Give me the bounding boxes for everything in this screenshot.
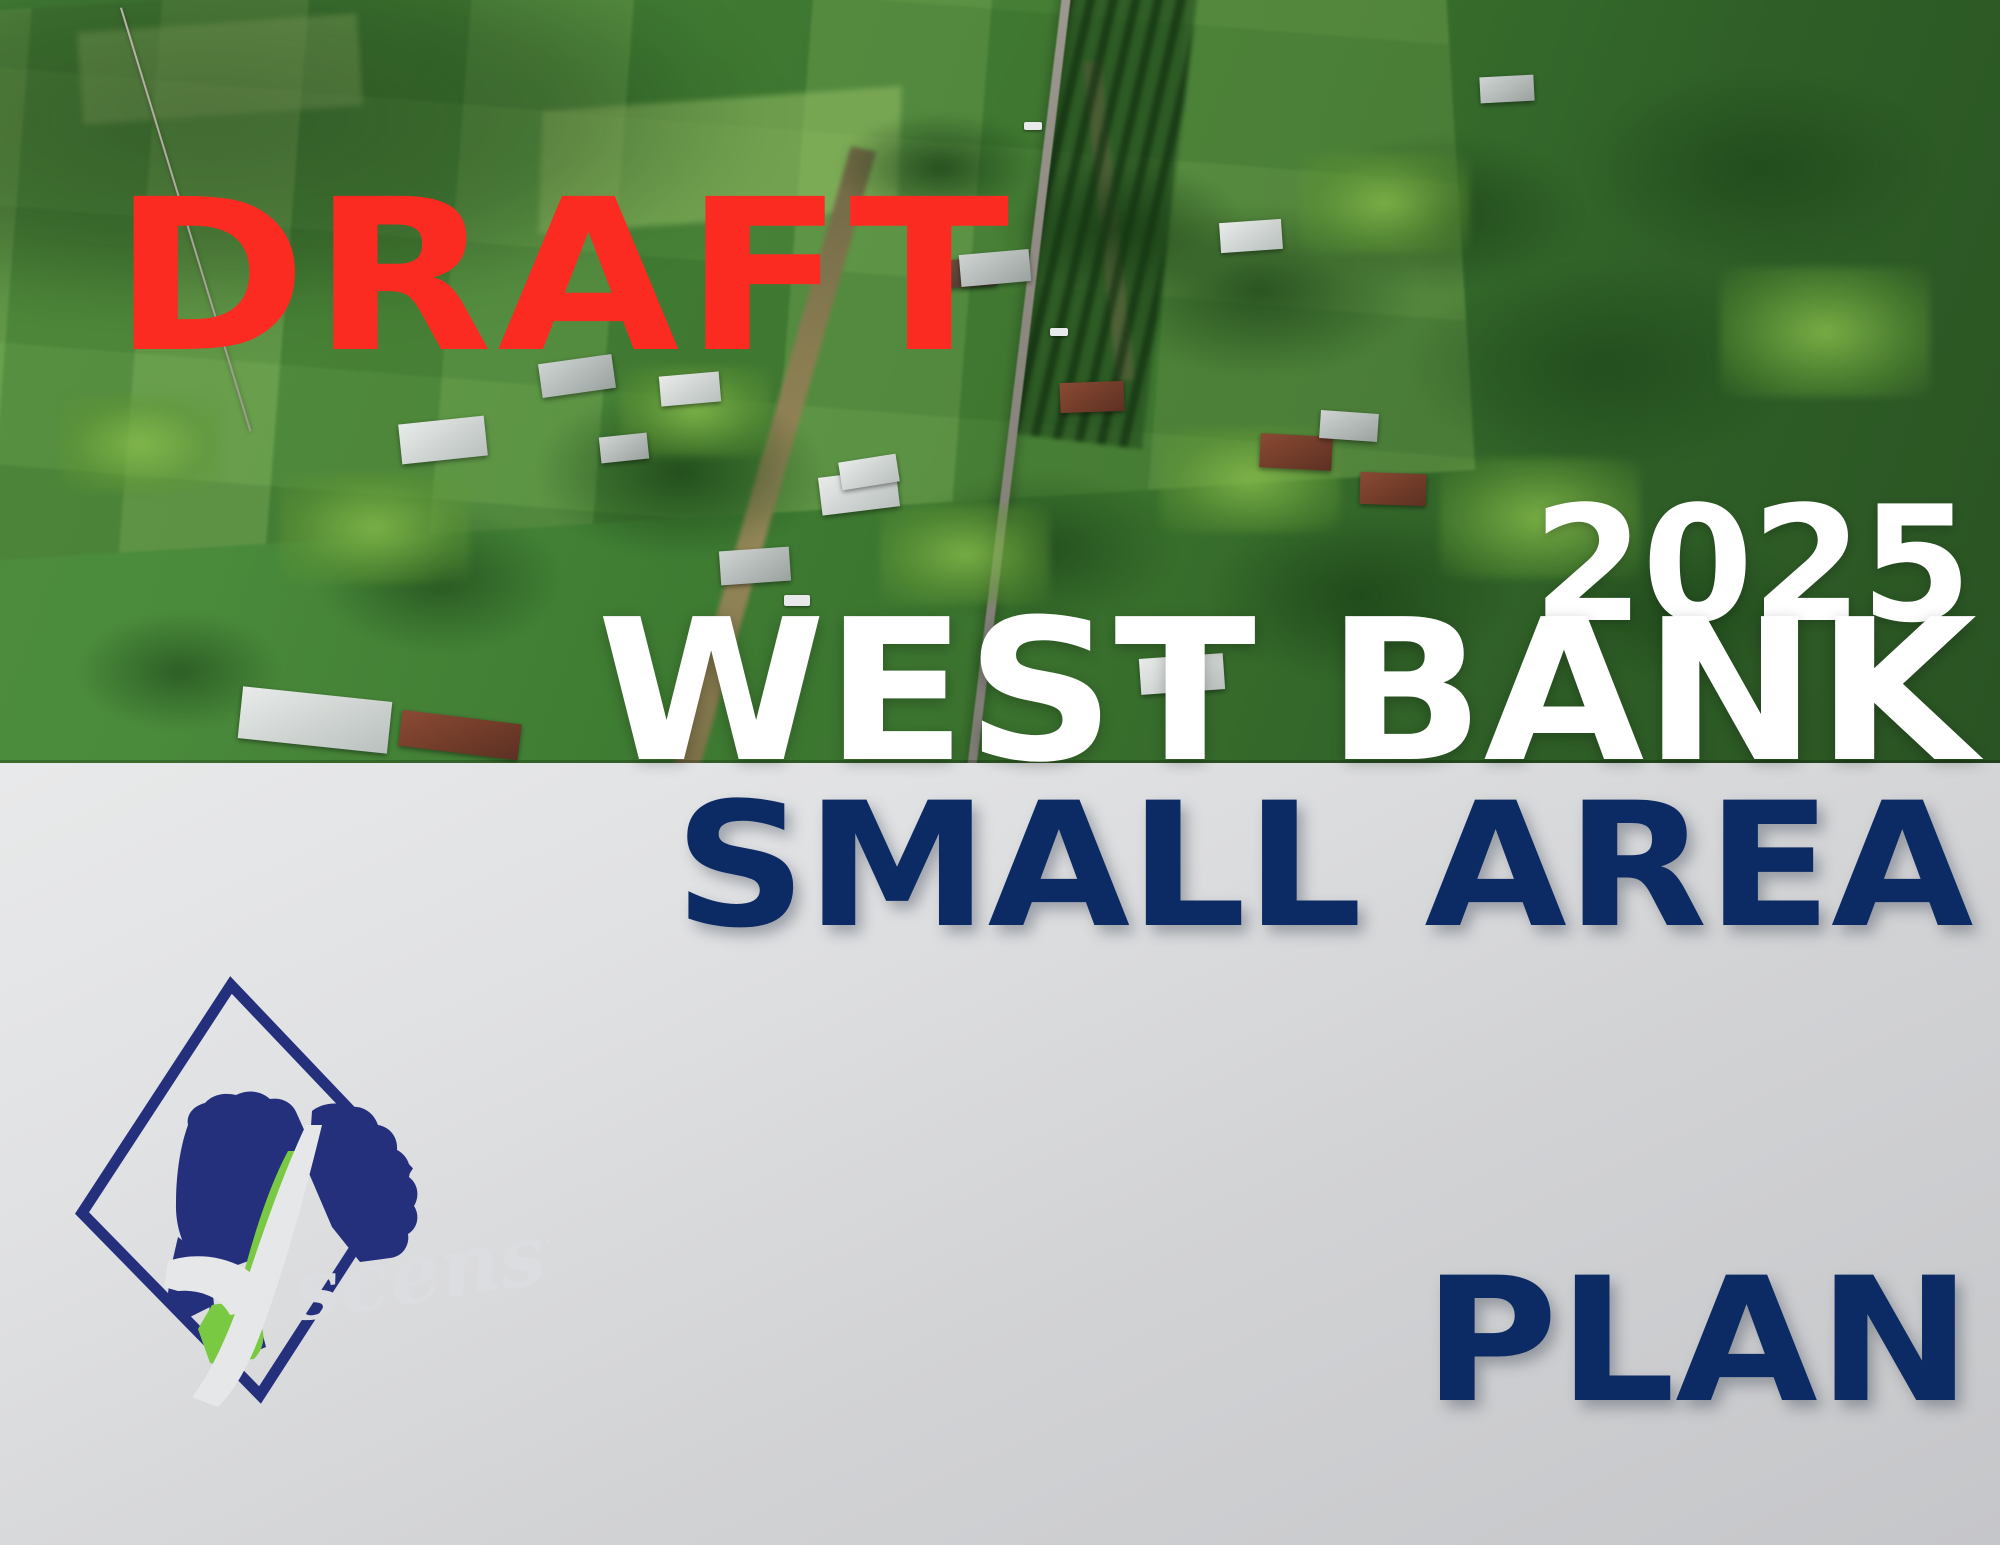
title-line-small-area: SMALL AREA	[674, 780, 1972, 952]
ascension-parish-logo: scension	[60, 975, 550, 1445]
photo-vehicle	[1024, 122, 1042, 130]
photo-vehicle	[1050, 328, 1068, 336]
photo-house-roof	[1059, 380, 1124, 412]
photo-house-roof	[599, 432, 649, 463]
title-line-west-bank: WEST BANK	[471, 600, 1976, 784]
photo-lawn	[1720, 267, 1930, 397]
plan-cover-page: DRAFT 2025 WEST BANK SMALL AREA PLAN	[0, 0, 2000, 1545]
photo-house-roof	[1319, 410, 1379, 442]
photo-house-roof	[1359, 472, 1426, 506]
photo-lawn	[280, 473, 470, 583]
photo-house-roof	[1219, 219, 1283, 253]
photo-house-roof	[1259, 433, 1333, 471]
draft-watermark: DRAFT	[112, 172, 1014, 382]
photo-lawn	[60, 397, 220, 492]
title-line-plan: PLAN	[1423, 1255, 1972, 1427]
photo-house-roof	[398, 415, 488, 464]
photo-house-roof	[1479, 75, 1534, 104]
photo-lawn	[1300, 153, 1470, 253]
